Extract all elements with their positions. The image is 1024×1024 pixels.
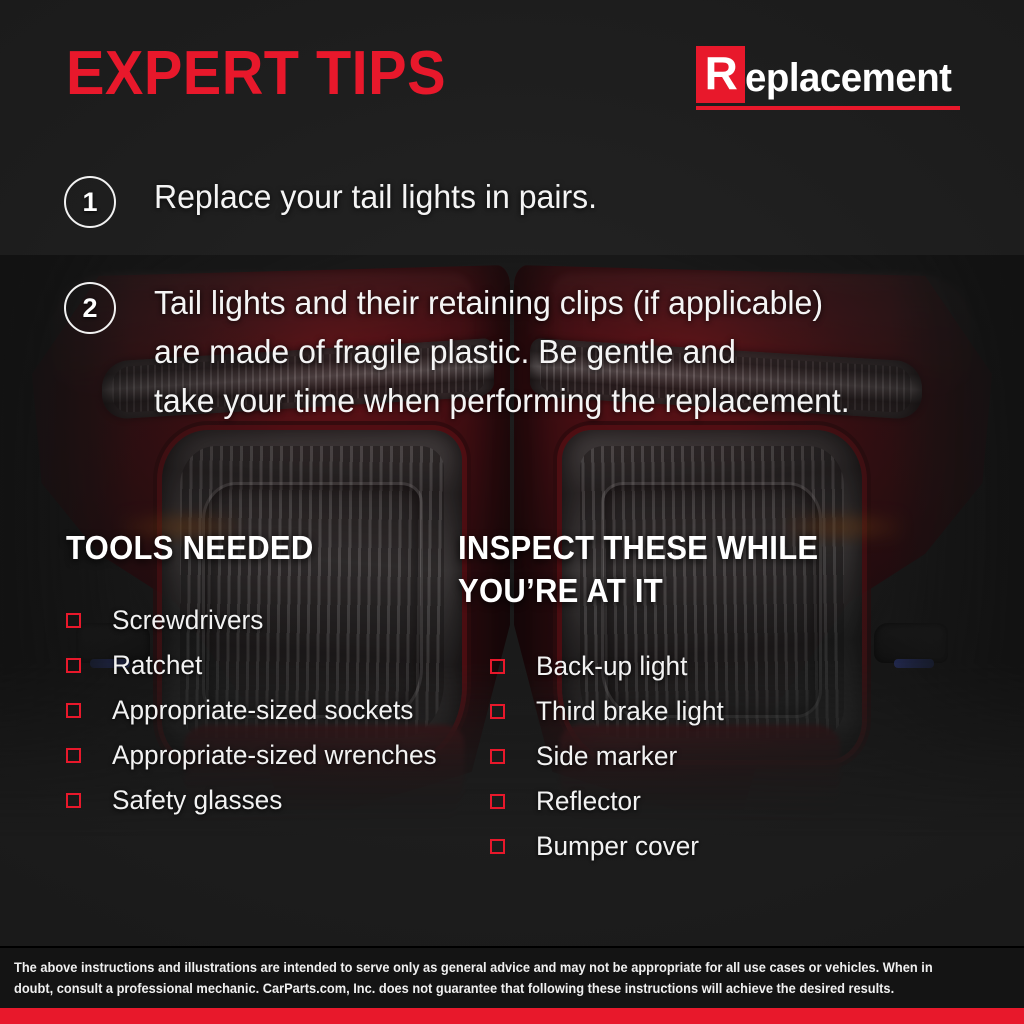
list-item: Third brake light [490, 689, 730, 734]
tip-text: Tail lights and their retaining clips (i… [154, 278, 850, 425]
list-item-label: Screwdrivers [112, 607, 263, 634]
list-item-label: Appropriate-sized wrenches [112, 742, 437, 769]
poster-content: EXPERT TIPS R eplacement 1 Replace your … [0, 0, 1024, 1024]
checkbox-icon [490, 839, 505, 854]
list-item: Back-up light [490, 644, 730, 689]
checkbox-icon [490, 749, 505, 764]
list-item-label: Bumper cover [536, 833, 699, 860]
tip-number-badge: 2 [64, 282, 116, 334]
bottom-accent-bar [0, 1008, 1024, 1024]
list-item-label: Third brake light [536, 698, 724, 725]
checkbox-icon [490, 659, 505, 674]
brand-wordmark: eplacement [745, 58, 952, 103]
checkbox-icon [490, 704, 505, 719]
expert-tips-poster: EXPERT TIPS R eplacement 1 Replace your … [0, 0, 1024, 1024]
tools-needed-heading: TOOLS NEEDED [66, 526, 314, 569]
brand-underline [696, 106, 960, 110]
page-title: EXPERT TIPS [66, 43, 446, 105]
brand-logo-row: R eplacement [696, 46, 960, 103]
list-item: Ratchet [66, 643, 447, 688]
checkbox-icon [66, 703, 81, 718]
checkbox-icon [66, 748, 81, 763]
list-item-label: Safety glasses [112, 787, 282, 814]
list-item-label: Reflector [536, 788, 641, 815]
checkbox-icon [66, 793, 81, 808]
tip-item-1: 1 Replace your tail lights in pairs. [64, 176, 611, 228]
list-item: Safety glasses [66, 778, 447, 823]
tools-needed-list: Screwdrivers Ratchet Appropriate-sized s… [66, 598, 447, 823]
footer-disclaimer: The above instructions and illustrations… [14, 957, 960, 999]
list-item: Reflector [490, 779, 730, 824]
list-item-label: Side marker [536, 743, 677, 770]
list-item: Bumper cover [490, 824, 730, 869]
list-item: Screwdrivers [66, 598, 447, 643]
list-item-label: Back-up light [536, 653, 687, 680]
list-item: Appropriate-sized sockets [66, 688, 447, 733]
inspect-these-heading: INSPECT THESE WHILE YOU’RE AT IT [458, 526, 834, 612]
brand-initial-badge: R [696, 46, 745, 103]
replacement-brand-logo: R eplacement [696, 46, 960, 110]
list-item-label: Ratchet [112, 652, 202, 679]
list-item-label: Appropriate-sized sockets [112, 697, 413, 724]
checkbox-icon [66, 613, 81, 628]
list-item: Appropriate-sized wrenches [66, 733, 447, 778]
tip-item-2: 2 Tail lights and their retaining clips … [64, 282, 871, 425]
inspect-these-list: Back-up light Third brake light Side mar… [490, 644, 730, 869]
tip-text: Replace your tail lights in pairs. [154, 172, 597, 221]
list-item: Side marker [490, 734, 730, 779]
tip-number-badge: 1 [64, 176, 116, 228]
checkbox-icon [66, 658, 81, 673]
checkbox-icon [490, 794, 505, 809]
